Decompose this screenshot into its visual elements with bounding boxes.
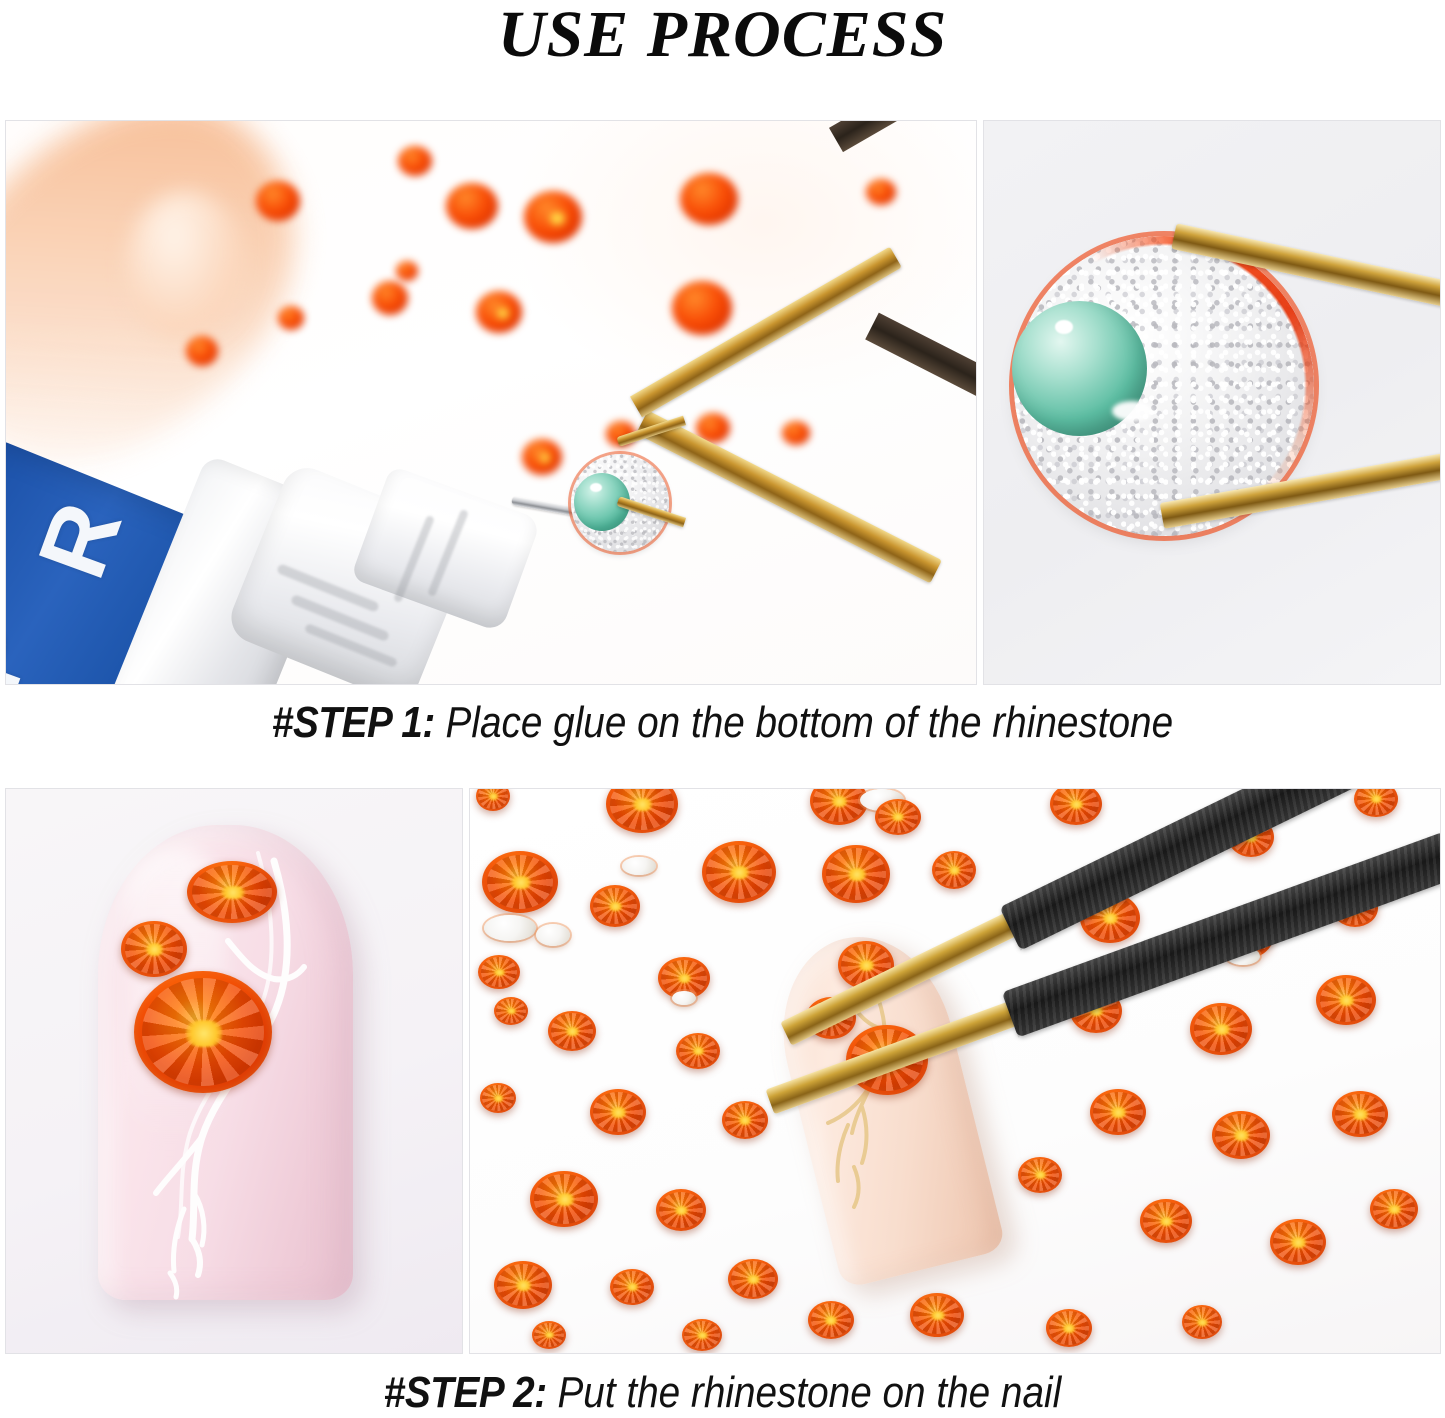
blurred-rhinestone bbox=[524, 191, 582, 243]
glue-bottle-letter-bottom: P bbox=[5, 608, 57, 685]
blurred-rhinestone bbox=[256, 181, 300, 221]
step-2-text: Put the rhinestone on the nail bbox=[547, 1368, 1061, 1417]
blurred-rhinestone bbox=[782, 421, 810, 445]
blurred-rhinestone bbox=[398, 146, 432, 176]
small-gem bbox=[121, 921, 187, 977]
use-process-infographic: USE PROCESS R bbox=[0, 0, 1445, 1412]
blurred-rhinestone bbox=[680, 173, 738, 225]
panel-glue-application: R P bbox=[5, 120, 977, 685]
step-2-label: #STEP 2: bbox=[384, 1368, 547, 1417]
panel-finished-nail bbox=[5, 788, 463, 1354]
medium-gem bbox=[187, 861, 277, 923]
step-2-panel-row bbox=[5, 788, 1441, 1354]
page-title: USE PROCESS bbox=[0, 2, 1445, 68]
blurred-rhinestone bbox=[396, 261, 418, 281]
large-gem bbox=[134, 971, 272, 1093]
step-2-caption: #STEP 2: Put the rhinestone on the nail bbox=[87, 1368, 1359, 1418]
blurred-rhinestone bbox=[278, 306, 304, 330]
panel-rhinestone-closeup bbox=[983, 120, 1441, 685]
blurred-rhinestone bbox=[186, 336, 218, 366]
blurred-rhinestone bbox=[522, 439, 562, 475]
blurred-rhinestone bbox=[672, 281, 732, 335]
blurred-rhinestone bbox=[372, 281, 408, 315]
step-1-label: #STEP 1: bbox=[272, 698, 435, 747]
gold-swirl-on-nail bbox=[470, 789, 1441, 1354]
glue-bottle-letter-top: R bbox=[17, 489, 144, 592]
step-1-panel-row: R P bbox=[5, 120, 1441, 685]
blurred-rhinestone bbox=[446, 183, 498, 229]
step-1-text: Place glue on the bottom of the rhinesto… bbox=[435, 698, 1173, 747]
blurred-rhinestone bbox=[866, 179, 896, 205]
panel-placing-rhinestone bbox=[469, 788, 1441, 1354]
blurred-nail-highlight bbox=[126, 191, 246, 341]
glue-drop-highlight bbox=[1112, 401, 1152, 421]
step-1-caption: #STEP 1: Place glue on the bottom of the… bbox=[87, 698, 1359, 748]
blurred-rhinestone bbox=[476, 291, 522, 333]
